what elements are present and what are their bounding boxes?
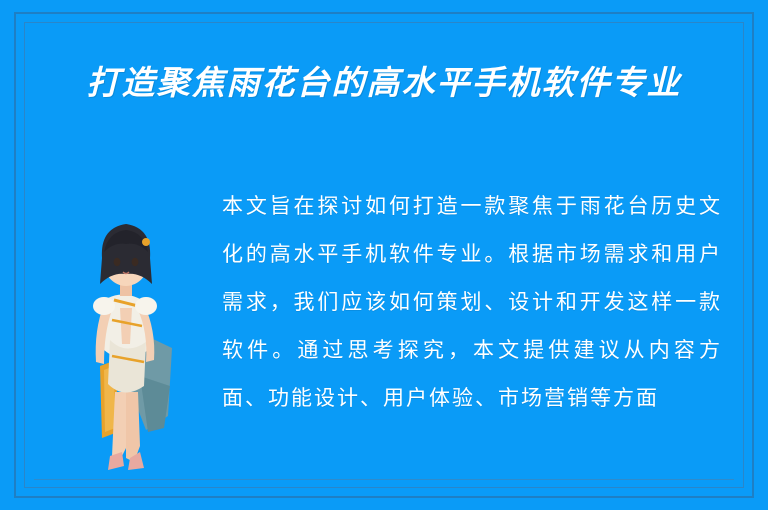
body-paragraph: 本文旨在探讨如何打造一款聚焦于雨花台历史文化的高水平手机软件专业。根据市场需求和… [222, 182, 722, 422]
poster-canvas: 打造聚焦雨花台的高水平手机软件专业 [0, 0, 768, 510]
page-title: 打造聚焦雨花台的高水平手机软件专业 [0, 56, 768, 104]
anime-character-illustration [60, 180, 190, 480]
